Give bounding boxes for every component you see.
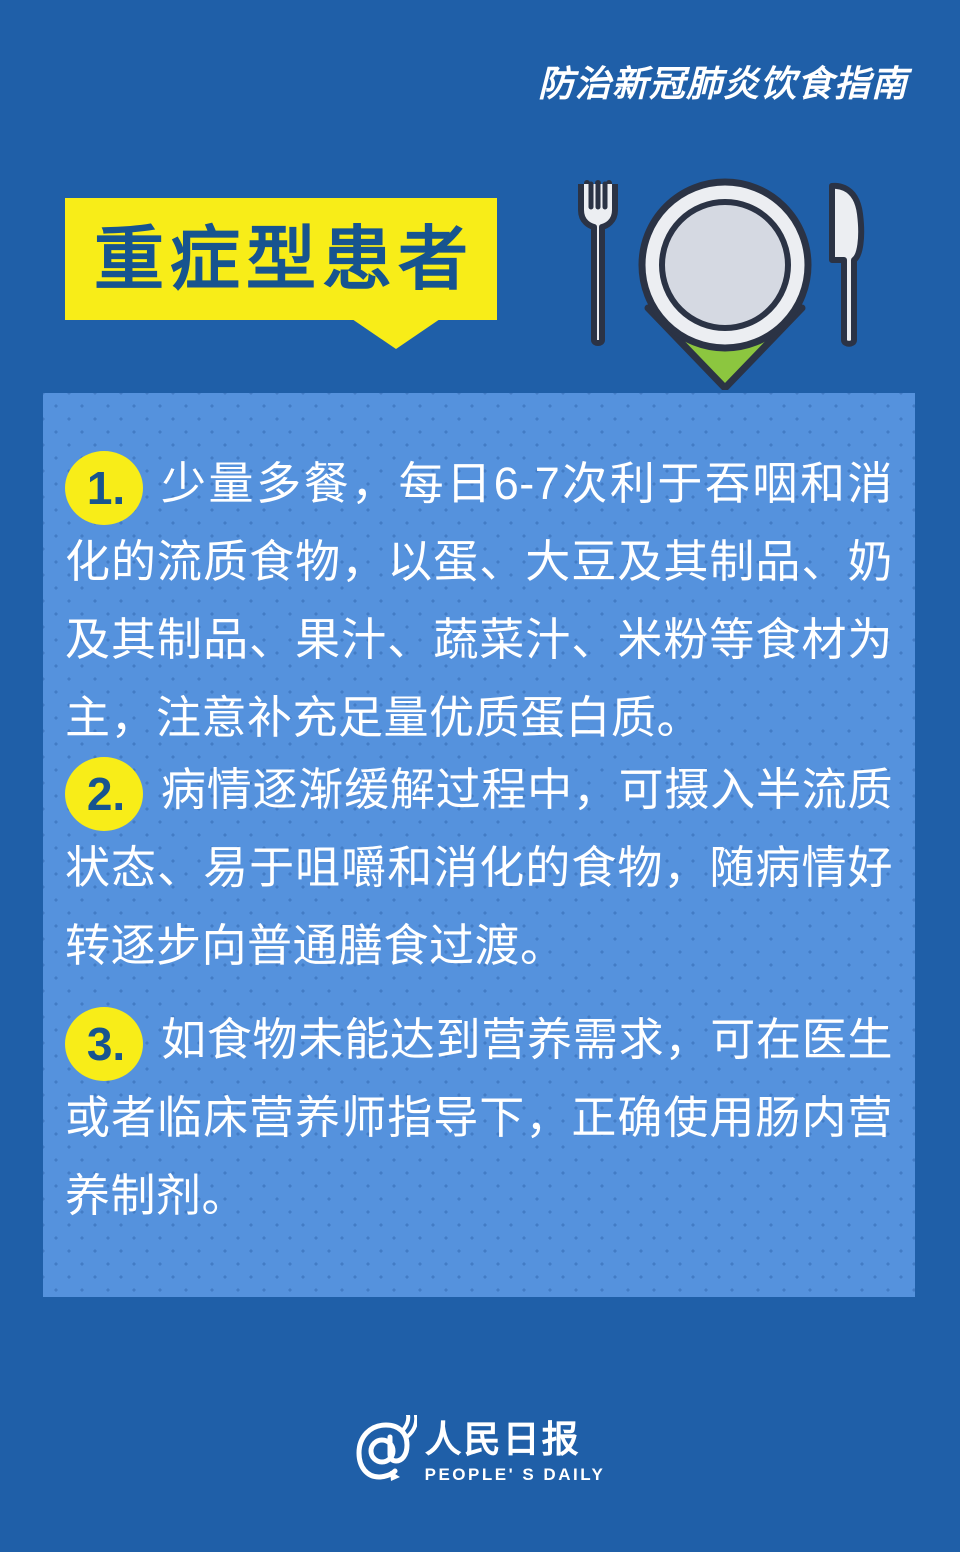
content-panel: 1. 少量多餐，每日6-7次利于吞咽和消化的流质食物，以蛋、大豆及其制品、奶及其… bbox=[43, 393, 915, 1297]
item-body-text: 病情逐渐缓解过程中，可摄入半流质状态、易于咀嚼和消化的食物，随病情好转逐步向普通… bbox=[63, 751, 895, 985]
page-title: 防治新冠肺炎饮食指南 bbox=[538, 62, 908, 105]
logo-text-group: 人民日报 PEOPLE' S DAILY bbox=[425, 1415, 606, 1487]
list-item: 2. 病情逐渐缓解过程中，可摄入半流质状态、易于咀嚼和消化的食物，随病情好转逐步… bbox=[63, 751, 895, 985]
section-title-banner: 重症型患者 bbox=[65, 198, 497, 320]
plate-fork-knife-location-pin-icon bbox=[570, 160, 880, 390]
item-number-badge: 1. bbox=[65, 451, 143, 525]
banner-tail-triangle bbox=[352, 319, 440, 349]
logo-english-name: PEOPLE' S DAILY bbox=[425, 1463, 606, 1487]
item-body-text: 如食物未能达到营养需求，可在医生或者临床营养师指导下，正确使用肠内营养制剂。 bbox=[63, 1001, 895, 1235]
at-sign-speech-bubble-icon bbox=[355, 1415, 417, 1487]
section-title-text: 重症型患者 bbox=[65, 198, 497, 320]
list-item: 3. 如食物未能达到营养需求，可在医生或者临床营养师指导下，正确使用肠内营养制剂… bbox=[63, 1001, 895, 1235]
item-number-badge: 3. bbox=[65, 1007, 143, 1081]
item-body-text: 少量多餐，每日6-7次利于吞咽和消化的流质食物，以蛋、大豆及其制品、奶及其制品、… bbox=[63, 445, 895, 757]
list-item: 1. 少量多餐，每日6-7次利于吞咽和消化的流质食物，以蛋、大豆及其制品、奶及其… bbox=[63, 445, 895, 757]
logo-chinese-name: 人民日报 bbox=[425, 1421, 606, 1460]
logo-group: 人民日报 PEOPLE' S DAILY bbox=[355, 1415, 606, 1487]
publisher-logo: 人民日报 PEOPLE' S DAILY bbox=[0, 1396, 960, 1506]
item-number-badge: 2. bbox=[65, 757, 143, 831]
poster-root: 防治新冠肺炎饮食指南 重症型患者 bbox=[0, 0, 960, 1552]
